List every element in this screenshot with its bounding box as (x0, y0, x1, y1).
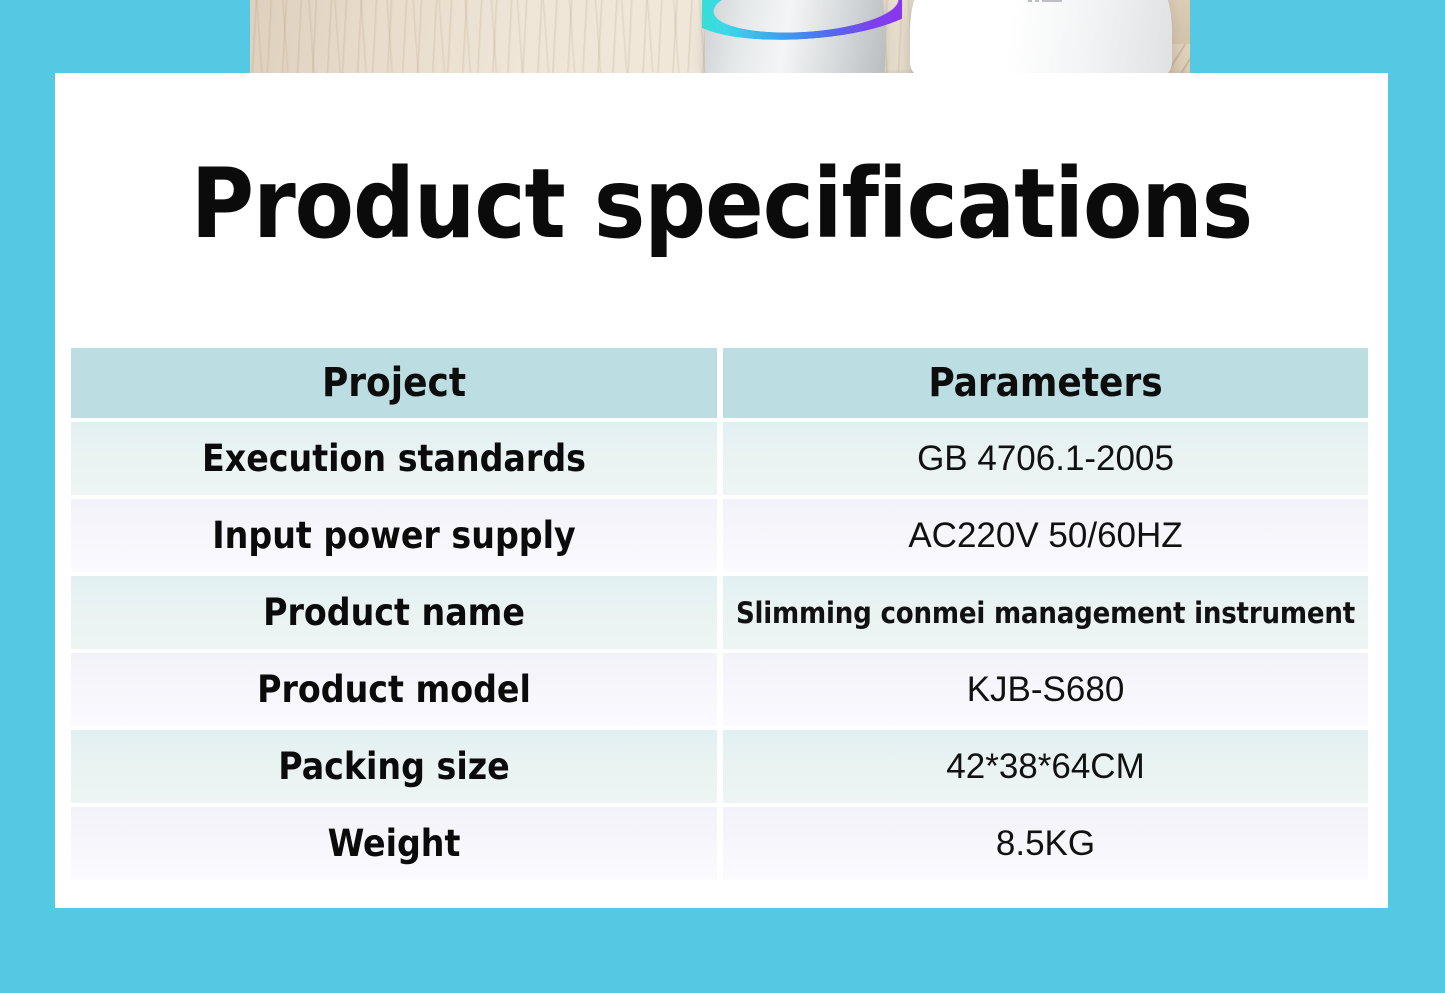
table-row: Product model KJB-S680 (71, 653, 1368, 726)
row-label: Execution standards (202, 437, 586, 480)
row-value-cell: 8.5KG (723, 807, 1368, 880)
row-value: KJB-S680 (967, 670, 1125, 710)
header-cell-parameters: Parameters (723, 348, 1368, 418)
row-value: GB 4706.1-2005 (917, 439, 1174, 479)
row-label: Product name (263, 591, 525, 634)
row-label-cell: Execution standards (71, 422, 717, 495)
row-value: AC220V 50/60HZ (908, 516, 1182, 556)
row-value: 8.5KG (996, 824, 1095, 864)
row-value: 42*38*64CM (946, 747, 1144, 787)
table-row: Input power supply AC220V 50/60HZ (71, 499, 1368, 572)
row-label: Input power supply (212, 514, 575, 557)
device-white-unit (910, 0, 1172, 80)
specifications-table: Project Parameters Execution standards G… (71, 348, 1368, 884)
row-value: Slimming conmei management instrument (736, 596, 1355, 630)
row-label-cell: Packing size (71, 730, 717, 803)
row-value-cell: KJB-S680 (723, 653, 1368, 726)
row-value-cell: AC220V 50/60HZ (723, 499, 1368, 572)
product-photo-strip (250, 0, 1190, 80)
header-label-parameters: Parameters (928, 360, 1162, 406)
rainbow-gradient-arc (702, 0, 902, 46)
row-label-cell: Weight (71, 807, 717, 880)
row-value-cell: GB 4706.1-2005 (723, 422, 1368, 495)
spec-card: Product specifications Project Parameter… (55, 73, 1388, 908)
table-row: Execution standards GB 4706.1-2005 (71, 422, 1368, 495)
row-label-cell: Product model (71, 653, 717, 726)
row-value-cell: 42*38*64CM (723, 730, 1368, 803)
header-cell-project: Project (71, 348, 717, 418)
row-label: Product model (257, 668, 531, 711)
header-label-project: Project (322, 360, 466, 406)
table-row: Product name Slimming conmei management … (71, 576, 1368, 649)
row-label: Packing size (278, 745, 509, 788)
row-value-cell: Slimming conmei management instrument (723, 576, 1368, 649)
table-header-row: Project Parameters (71, 348, 1368, 418)
table-row: Packing size 42*38*64CM (71, 730, 1368, 803)
row-label: Weight (328, 822, 461, 865)
row-label-cell: Product name (71, 576, 717, 649)
table-row: Weight 8.5KG (71, 807, 1368, 880)
device-logo-icon (1028, 0, 1062, 2)
page-title: Product specifications (55, 147, 1388, 262)
row-label-cell: Input power supply (71, 499, 717, 572)
